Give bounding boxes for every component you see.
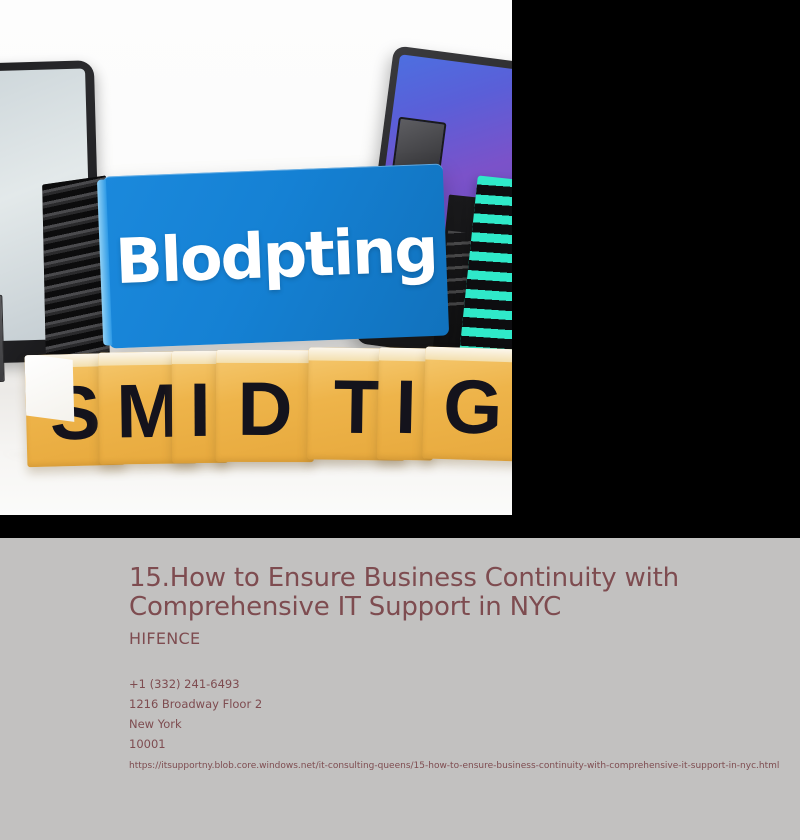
block-letter: I xyxy=(395,370,418,446)
block-letter: I xyxy=(189,373,211,449)
block-letter: D xyxy=(237,372,292,448)
contact-block: +1 (332) 241-6493 1216 Broadway Floor 2 … xyxy=(129,674,782,777)
block-letter: T xyxy=(333,370,380,447)
sign-text: Blodpting xyxy=(114,219,437,293)
contact-street: 1216 Broadway Floor 2 xyxy=(129,694,782,714)
brand-name: HIFENCE xyxy=(129,629,782,648)
page-title: 15.How to Ensure Business Continuity wit… xyxy=(129,564,704,623)
block-top-face xyxy=(425,346,512,362)
contact-city: New York xyxy=(129,714,782,734)
info-inner: 15.How to Ensure Business Continuity wit… xyxy=(129,564,782,777)
block-letter: M xyxy=(116,374,180,451)
blue-sign: Blodpting xyxy=(103,164,449,349)
letter-block: D xyxy=(216,350,314,462)
page-root: Blodpting S M I D xyxy=(0,0,800,840)
hero-photo: Blodpting S M I D xyxy=(0,0,512,515)
contact-zip: 10001 xyxy=(129,734,782,754)
block-top-face xyxy=(216,350,314,363)
article-url[interactable]: https://itsupportny.blob.core.windows.ne… xyxy=(129,756,782,777)
contact-phone[interactable]: +1 (332) 241-6493 xyxy=(129,674,782,694)
info-panel: 15.How to Ensure Business Continuity wit… xyxy=(0,538,800,840)
block-letter: G xyxy=(442,369,503,447)
block-white-corner xyxy=(25,354,75,422)
letter-block: G xyxy=(422,346,512,461)
hero-band: Blodpting S M I D xyxy=(0,0,800,538)
letter-blocks: S M I D T xyxy=(26,348,512,476)
